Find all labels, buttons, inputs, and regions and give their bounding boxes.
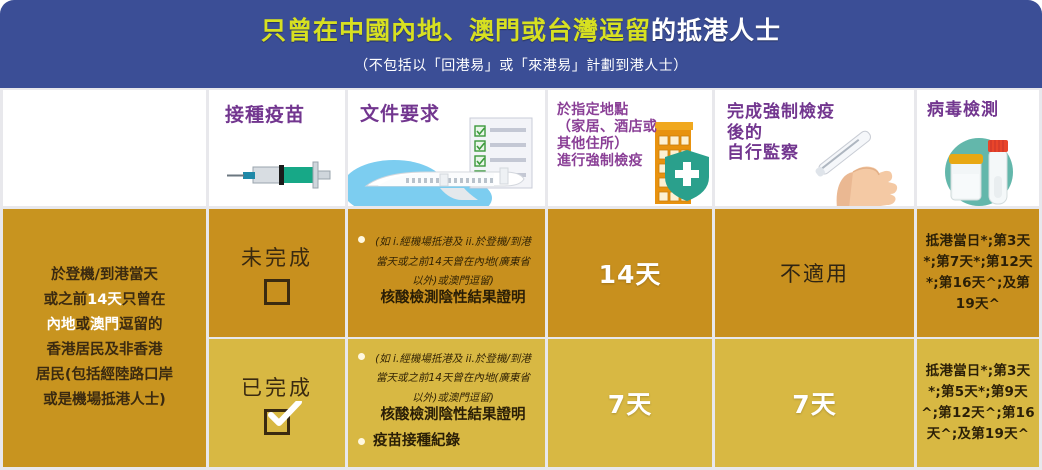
row-2-testing: 抵港當日*;第3天*;第5天*;第9天^;第12天^;第16天^;及第19天^: [917, 339, 1039, 467]
header-label-quarantine: 於指定地點 （家居、酒店或 其他住所） 進行強制檢疫: [557, 102, 657, 170]
row-2-monitoring: 7天: [715, 339, 914, 467]
row-2-testing-value: 抵港當日*;第3天*;第5天*;第9天^;第12天^;第16天^;及第19天^: [917, 361, 1039, 445]
title-banner: 只曾在中國內地、澳門或台灣逗留的抵港人士 （不包括以「回港易」或「來港易」計劃到…: [0, 0, 1042, 88]
row-1-documents-list: (如 i.經機場抵港及 ii.於登機/到港當天或之前14天曾在內地(廣東省以外)…: [348, 230, 545, 315]
bullet-icon: [358, 438, 365, 445]
row-1-testing-value: 抵港當日*;第3天*;第7天*;第12天*;第16天^;及第19天^: [917, 231, 1039, 315]
category-line2a: 或之前: [44, 292, 88, 308]
header-label-vaccination: 接種疫苗: [225, 104, 305, 127]
category-line3d: 逗留的: [119, 317, 163, 333]
header-cell-testing: 病毒檢測: [917, 90, 1039, 206]
row-1-vaccination: 未完成: [209, 209, 345, 337]
row-1-quarantine: 14天: [548, 209, 712, 337]
requirements-table: 接種疫苗 文件要求: [0, 88, 1042, 470]
header-label-documents: 文件要求: [360, 103, 440, 126]
row-2-quarantine-value: 7天: [608, 385, 652, 421]
category-line1: 於登機/到港當天: [51, 267, 158, 283]
category-line6: 或是機場抵港人士): [43, 392, 166, 408]
row-2-doc-1-main: 疫苗接種紀錄: [373, 432, 460, 452]
row-2-vaccination-checkbox-checked[interactable]: [264, 409, 290, 435]
row-1-vaccination-checkbox-unchecked[interactable]: [264, 279, 290, 305]
row-1-documents: (如 i.經機場抵港及 ii.於登機/到港當天或之前14天曾在內地(廣東省以外)…: [348, 209, 545, 337]
header-label-quarantine-l2: （家居、酒店或: [557, 119, 657, 136]
header-label-quarantine-l3: 其他住所）: [557, 136, 657, 153]
syringe-icon: [223, 152, 335, 198]
airplane-checklist-icon: [348, 116, 545, 206]
header-cell-monitoring: 完成強制檢疫 後的 自行監察: [715, 90, 914, 206]
category-cell: 於登機/到港當天 或之前14天只曾在 內地或澳門逗留的 香港居民及非香港 居民(…: [3, 209, 206, 467]
row-1-testing: 抵港當日*;第3天*;第7天*;第12天*;第16天^;及第19天^: [917, 209, 1039, 337]
row-1-doc-0-main: 核酸檢測陰性結果證明: [373, 289, 533, 309]
header-cell-vaccination: 接種疫苗: [209, 90, 345, 206]
row-2-quarantine: 7天: [548, 339, 712, 467]
page-subtitle: （不包括以「回港易」或「來港易」計劃到港人士）: [354, 55, 688, 75]
category-line5: 居民(包括經陸路口岸: [36, 367, 173, 383]
header-label-testing: 病毒檢測: [927, 100, 999, 121]
category-line3b: 或: [75, 317, 90, 333]
category-text: 於登機/到港當天 或之前14天只曾在 內地或澳門逗留的 香港居民及非香港 居民(…: [26, 263, 183, 413]
header-cell-quarantine: 於指定地點 （家居、酒店或 其他住所） 進行強制檢疫: [548, 90, 712, 206]
row-1-monitoring: 不適用: [715, 209, 914, 337]
header-label-quarantine-l4: 進行強制檢疫: [557, 153, 657, 170]
category-line2b: 14天: [87, 292, 122, 308]
row-2-documents-list: (如 i.經機場抵港及 ii.於登機/到港當天或之前14天曾在內地(廣東省以外)…: [348, 347, 545, 459]
specimen-jar-icon: [933, 130, 1029, 206]
row-2-doc-0-main: 核酸檢測陰性結果證明: [373, 406, 533, 426]
category-line3a: 內地: [46, 317, 75, 333]
category-line3c: 澳門: [90, 317, 119, 333]
header-label-monitoring-l2: 後的: [727, 123, 835, 144]
header-label-monitoring-l1: 完成強制檢疫: [727, 102, 835, 123]
header-cell-documents: 文件要求: [348, 90, 545, 206]
row-2-documents: (如 i.經機場抵港及 ii.於登機/到港當天或之前14天曾在內地(廣東省以外)…: [348, 339, 545, 467]
page-title: 只曾在中國內地、澳門或台灣逗留的抵港人士: [261, 17, 781, 46]
checkmark-icon: [268, 401, 302, 427]
row-1-vaccination-label: 未完成: [241, 242, 313, 272]
header-label-monitoring-l3: 自行監察: [727, 143, 835, 164]
category-line4: 香港居民及非香港: [46, 342, 162, 358]
page-title-rest: 的抵港人士: [651, 16, 781, 45]
row-2-monitoring-value: 7天: [792, 385, 836, 421]
bullet-icon: [358, 236, 365, 243]
row-1-monitoring-value: 不適用: [780, 258, 849, 288]
list-item: 疫苗接種紀錄: [356, 432, 533, 452]
row-2-doc-0-note: (如 i.經機場抵港及 ii.於登機/到港當天或之前14天曾在內地(廣東省以外)…: [375, 353, 531, 403]
header-label-monitoring: 完成強制檢疫 後的 自行監察: [727, 102, 835, 164]
row-2-vaccination: 已完成: [209, 339, 345, 467]
row-1-quarantine-value: 14天: [599, 255, 662, 291]
bullet-icon: [358, 353, 365, 360]
page-title-highlight: 只曾在中國內地、澳門或台灣逗留: [261, 16, 651, 45]
category-line2c: 只曾在: [122, 292, 166, 308]
building-shield-icon: [651, 120, 712, 206]
list-item: (如 i.經機場抵港及 ii.於登機/到港當天或之前14天曾在內地(廣東省以外)…: [356, 230, 533, 308]
row-1-doc-0-note: (如 i.經機場抵港及 ii.於登機/到港當天或之前14天曾在內地(廣東省以外)…: [375, 236, 531, 286]
row-2-vaccination-label: 已完成: [241, 372, 313, 402]
infographic-page: 只曾在中國內地、澳門或台灣逗留的抵港人士 （不包括以「回港易」或「來港易」計劃到…: [0, 0, 1042, 470]
header-cell-category: [3, 90, 206, 206]
header-label-quarantine-l1: 於指定地點: [557, 102, 657, 119]
list-item: (如 i.經機場抵港及 ii.於登機/到港當天或之前14天曾在內地(廣東省以外)…: [356, 347, 533, 425]
